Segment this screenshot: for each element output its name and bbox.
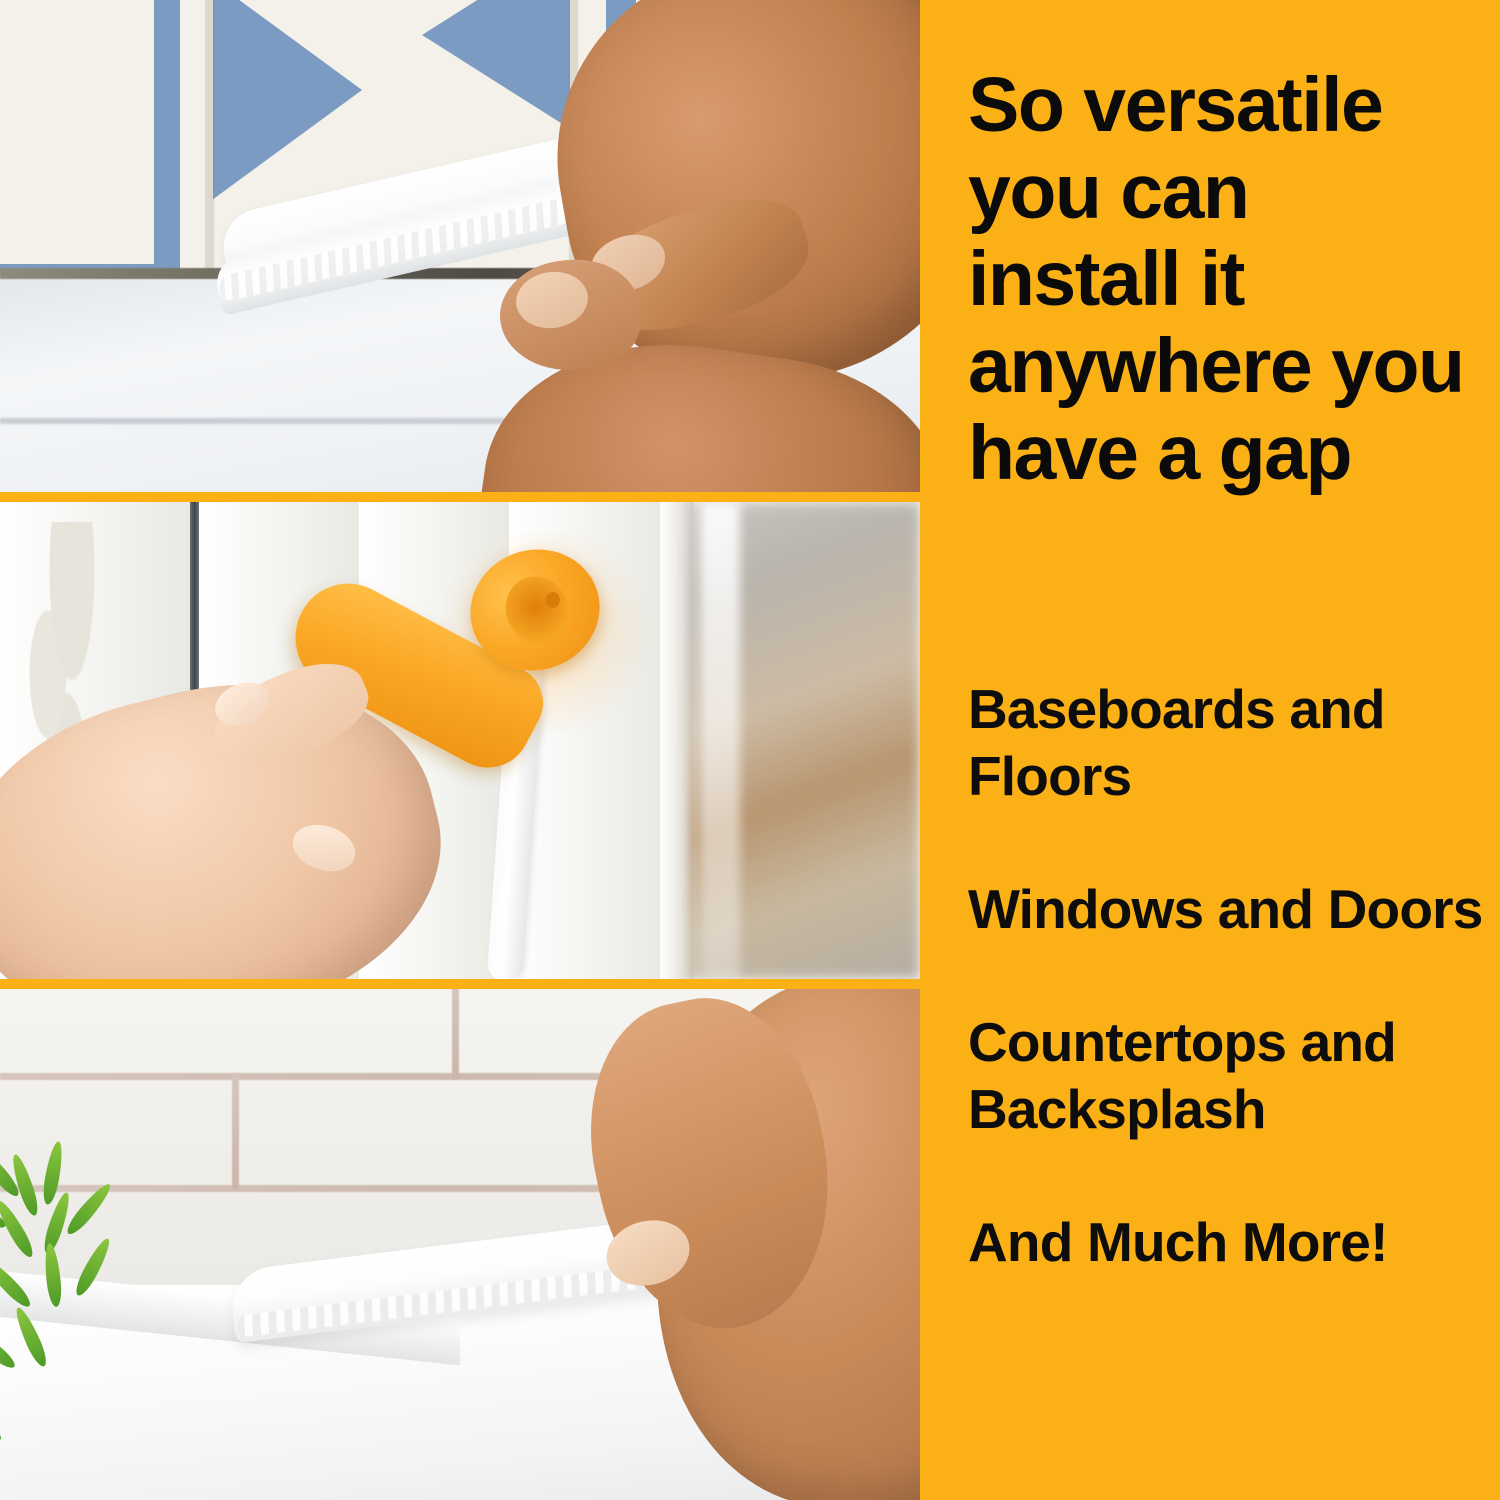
use-case-item: Countertops and Backsplash xyxy=(968,1009,1488,1143)
use-case-item: And Much More! xyxy=(968,1209,1488,1276)
counter-edge-line xyxy=(0,418,560,424)
frame-edge xyxy=(660,502,694,979)
grout-line xyxy=(206,0,213,310)
potted-plant xyxy=(0,1139,190,1499)
text-panel: So versatile you can install it anywhere… xyxy=(920,0,1500,1500)
photo-tile-backsplash xyxy=(0,0,920,492)
photo-column xyxy=(0,0,920,1500)
photo-divider xyxy=(0,492,920,502)
grout-line xyxy=(452,989,459,1079)
applicator-tool-vent xyxy=(546,592,560,608)
photo-divider xyxy=(0,979,920,989)
grout-line xyxy=(232,1073,239,1189)
use-case-list: Baseboards and Floors Windows and Doors … xyxy=(968,676,1488,1276)
headline: So versatile you can install it anywhere… xyxy=(968,62,1474,497)
use-case-item: Windows and Doors xyxy=(968,876,1488,943)
photo-countertop xyxy=(0,989,920,1500)
photo-window-frame xyxy=(0,502,920,979)
use-case-item: Baseboards and Floors xyxy=(968,676,1488,810)
glass-highlight xyxy=(700,502,740,979)
product-feature-poster: So versatile you can install it anywhere… xyxy=(0,0,1500,1500)
